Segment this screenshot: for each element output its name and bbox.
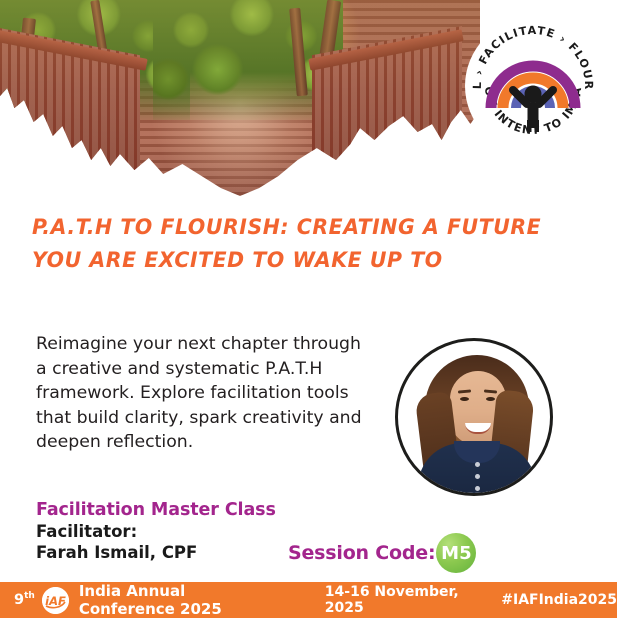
bridge-path-photo [0, 0, 480, 200]
button-icon [475, 462, 480, 467]
edition-suffix: th [24, 591, 35, 601]
facilitator-block: Facilitation Master Class Facilitator: F… [36, 500, 276, 563]
button-icon [475, 486, 480, 491]
session-code-label: Session Code: [288, 542, 435, 564]
conference-hashtag: #IAFIndia2025 [501, 592, 617, 608]
session-code-badge: M5 [436, 533, 476, 573]
session-title-line-2: YOU ARE EXCITED TO WAKE UP TO [32, 244, 450, 277]
conference-dates: 14-16 November, 2025 [325, 584, 469, 616]
avatar-image [398, 341, 550, 493]
button-icon [475, 474, 480, 479]
iaf-logo-icon: iAF [42, 587, 69, 614]
conference-name: India Annual Conference 2025 [79, 582, 286, 618]
facilitator-name: Farah Ismail, CPF [36, 542, 276, 563]
session-title: P.A.T.H TO FLOURISH: CREATING A FUTURE Y… [32, 211, 450, 277]
facilitator-role-label: Facilitator: [36, 521, 276, 542]
footer-bar: 9th iAF India Annual Conference 2025 14-… [0, 582, 617, 618]
eye-right-icon [486, 397, 495, 401]
iaf-conference-round-logo: • FEEL › FACILITATE › FLOURISH • FROM IN… [463, 16, 603, 156]
session-description: Reimagine your next chapter through a cr… [36, 332, 366, 455]
hero-image-torn-edge [0, 0, 480, 200]
session-poster: • FEEL › FACILITATE › FLOURISH • FROM IN… [0, 0, 617, 618]
edition-ordinal: 9th [14, 592, 35, 607]
eye-left-icon [460, 397, 469, 401]
svg-text:iAF: iAF [45, 594, 66, 608]
facilitator-avatar [395, 338, 553, 496]
edition-number: 9 [14, 592, 24, 608]
session-title-line-1: P.A.T.H TO FLOURISH: CREATING A FUTURE [32, 211, 450, 244]
session-code-row: Session Code: M5 [288, 533, 476, 573]
facilitation-class-label: Facilitation Master Class [36, 500, 276, 521]
